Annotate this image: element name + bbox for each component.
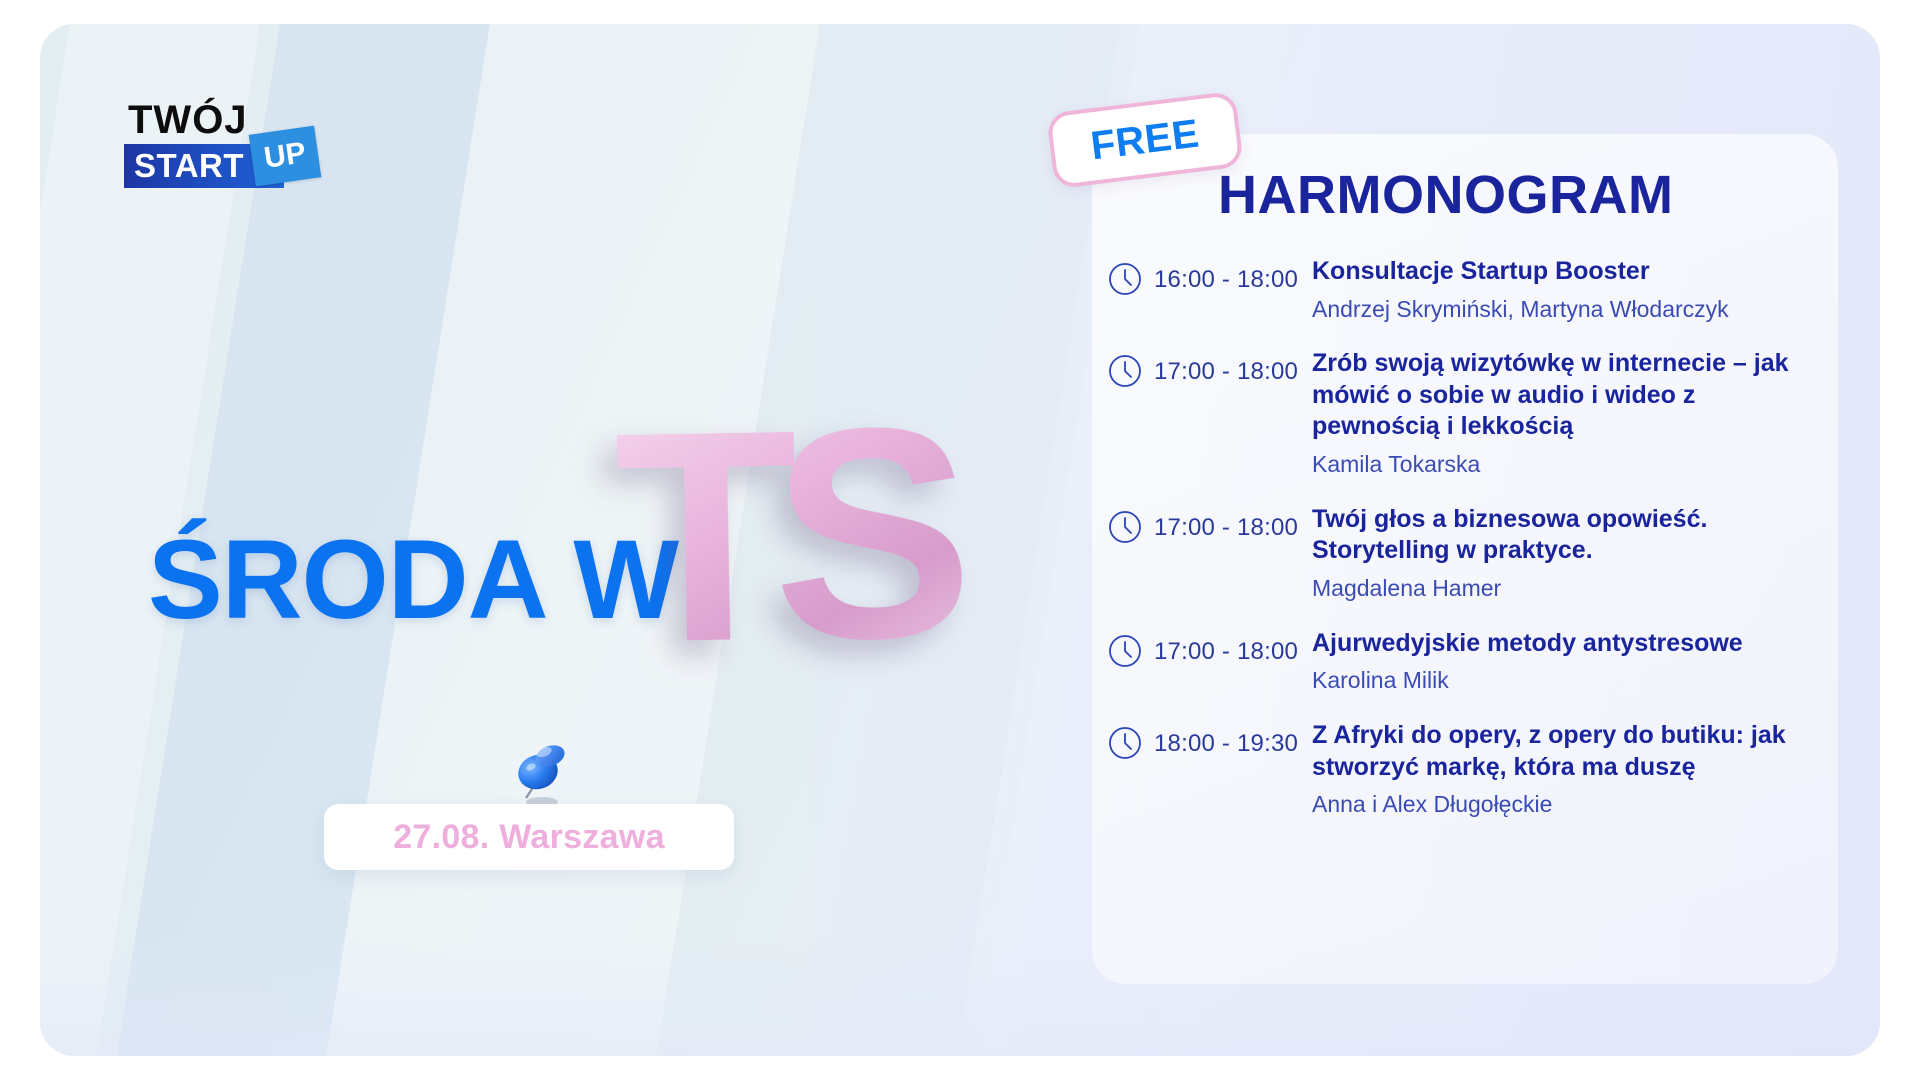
schedule-row: 16:00 - 18:00Konsultacje Startup Booster… (1108, 256, 1828, 324)
schedule-body: Zrób swoją wizytówkę w internecie – jak … (1304, 348, 1828, 479)
schedule-speaker: Magdalena Hamer (1312, 574, 1828, 604)
brand-logo[interactable]: TWÓJ START UP (124, 100, 324, 196)
pushpin-icon (512, 736, 574, 810)
schedule-row: 18:00 - 19:30Z Afryki do opery, z opery … (1108, 720, 1828, 820)
schedule-speaker: Anna i Alex Długołęckie (1312, 790, 1828, 820)
schedule-time: 17:00 - 18:00 (1154, 348, 1304, 387)
schedule-body: Konsultacje Startup BoosterAndrzej Skrym… (1304, 256, 1828, 324)
poster-card: TWÓJ START UP ŚRODA W TS (40, 24, 1880, 1056)
clock-icon (1108, 634, 1142, 668)
clock-icon (1108, 354, 1142, 388)
schedule-body: Twój głos a biznesowa opowieść. Storytel… (1304, 504, 1828, 604)
clock-icon (1108, 262, 1142, 296)
schedule-list: 16:00 - 18:00Konsultacje Startup Booster… (1108, 256, 1828, 844)
free-badge-label: FREE (1088, 111, 1201, 169)
balloon-letters: TS (613, 381, 1018, 668)
clock-icon (1108, 634, 1142, 668)
schedule-title: Konsultacje Startup Booster (1312, 256, 1828, 288)
date-location-pill[interactable]: 27.08. Warszawa (324, 804, 734, 870)
clock-icon (1108, 726, 1142, 760)
schedule-row: 17:00 - 18:00Twój głos a biznesowa opowi… (1108, 504, 1828, 604)
schedule-body: Ajurwedyjskie metody antystresoweKarolin… (1304, 628, 1828, 696)
clock-icon (1108, 510, 1142, 544)
schedule-row: 17:00 - 18:00Ajurwedyjskie metody antyst… (1108, 628, 1828, 696)
schedule-time: 18:00 - 19:30 (1154, 720, 1304, 759)
schedule-time: 17:00 - 18:00 (1154, 504, 1304, 543)
clock-icon (1108, 262, 1142, 296)
schedule-body: Z Afryki do opery, z opery do butiku: ja… (1304, 720, 1828, 820)
page-title: ŚRODA W (148, 524, 678, 636)
schedule-time: 16:00 - 18:00 (1154, 256, 1304, 295)
schedule-title: Ajurwedyjskie metody antystresowe (1312, 628, 1828, 660)
schedule-speaker: Andrzej Skrymiński, Martyna Włodarczyk (1312, 295, 1828, 325)
date-location-text: 27.08. Warszawa (393, 818, 665, 857)
schedule-speaker: Karolina Milik (1312, 666, 1828, 696)
schedule-title: Twój głos a biznesowa opowieść. Storytel… (1312, 504, 1828, 567)
clock-icon (1108, 726, 1142, 760)
schedule-time: 17:00 - 18:00 (1154, 628, 1304, 667)
logo-start-text: START (124, 147, 244, 185)
logo-up-badge: UP (249, 126, 322, 187)
logo-up-text: UP (262, 136, 308, 175)
schedule-speaker: Kamila Tokarska (1312, 450, 1828, 480)
clock-icon (1108, 510, 1142, 544)
clock-icon (1108, 354, 1142, 388)
schedule-title: Z Afryki do opery, z opery do butiku: ja… (1312, 720, 1828, 783)
schedule-row: 17:00 - 18:00Zrób swoją wizytówkę w inte… (1108, 348, 1828, 479)
schedule-heading: HARMONOGRAM (1218, 164, 1673, 226)
schedule-title: Zrób swoją wizytówkę w internecie – jak … (1312, 348, 1828, 443)
